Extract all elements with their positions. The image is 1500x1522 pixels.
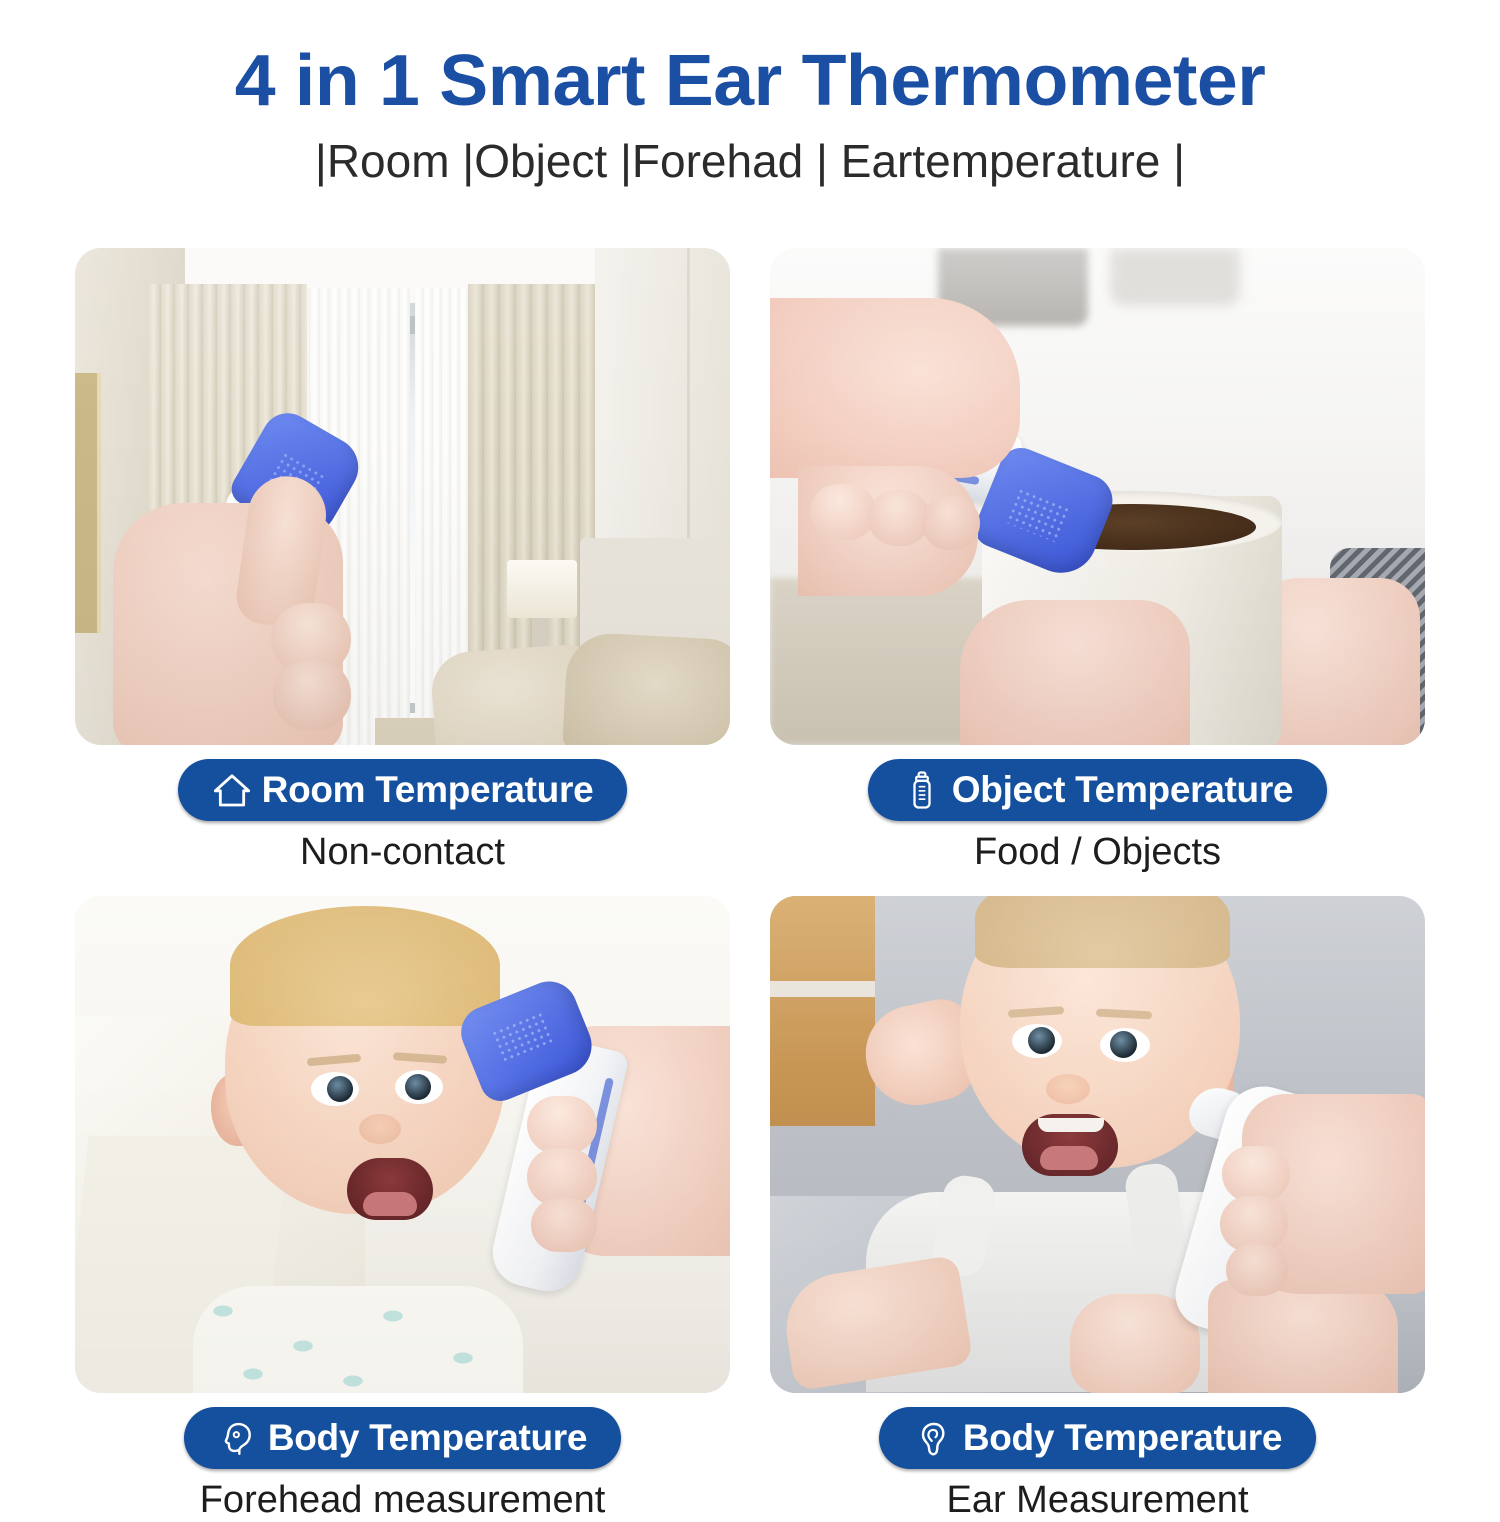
feature-card-forehead-temperature[interactable]: Body Temperature Forehead measurement: [75, 896, 730, 1522]
feature-card-ear-temperature[interactable]: Body Temperature Ear Measurement: [770, 896, 1425, 1522]
table-lamp: [507, 560, 577, 618]
badge-object-temperature[interactable]: Object Temperature: [868, 759, 1327, 821]
feature-card-object-temperature[interactable]: Object Temperature Food / Objects: [770, 248, 1425, 874]
photo-forehead-temperature: [75, 896, 730, 1393]
card-caption: Non-contact: [300, 831, 505, 874]
page-title: 4 in 1 Smart Ear Thermometer: [0, 44, 1500, 120]
feature-card-room-temperature[interactable]: Room Temperature Non-contact: [75, 248, 730, 874]
head-profile-icon: [218, 1416, 258, 1460]
photo-ear-temperature: [770, 896, 1425, 1393]
card-caption: Food / Objects: [974, 831, 1221, 874]
baby-forehead-scene: [75, 896, 730, 1393]
card-caption: Ear Measurement: [946, 1479, 1248, 1522]
page-header: 4 in 1 Smart Ear Thermometer |Room |Obje…: [0, 0, 1500, 186]
badge-label: Object Temperature: [952, 769, 1293, 811]
wall-picture-frame: [75, 373, 101, 633]
feature-card-grid: Room Temperature Non-contact: [75, 248, 1425, 1522]
coffee-mug-scene: [770, 248, 1425, 745]
photo-object-temperature: [770, 248, 1425, 745]
badge-forehead-temperature[interactable]: Body Temperature: [184, 1407, 621, 1469]
badge-room-temperature[interactable]: Room Temperature: [178, 759, 628, 821]
card-caption: Forehead measurement: [200, 1479, 606, 1522]
badge-label: Body Temperature: [963, 1417, 1282, 1459]
hand-holding-thermometer: [770, 298, 1020, 478]
hand-holding-mug: [960, 600, 1190, 745]
page-subtitle: |Room |Object |Forehad | Eartemperature …: [0, 136, 1500, 187]
home-icon: [212, 768, 252, 812]
baby-bottle-icon: [902, 768, 942, 812]
photo-room-temperature: [75, 248, 730, 745]
ear-icon: [913, 1416, 953, 1460]
badge-label: Room Temperature: [262, 769, 594, 811]
baby-ear-scene: [770, 896, 1425, 1393]
pillow: [562, 631, 730, 745]
bedroom-scene: [75, 248, 730, 745]
badge-ear-temperature[interactable]: Body Temperature: [879, 1407, 1316, 1469]
badge-label: Body Temperature: [268, 1417, 587, 1459]
baby-pajamas: [193, 1286, 523, 1393]
